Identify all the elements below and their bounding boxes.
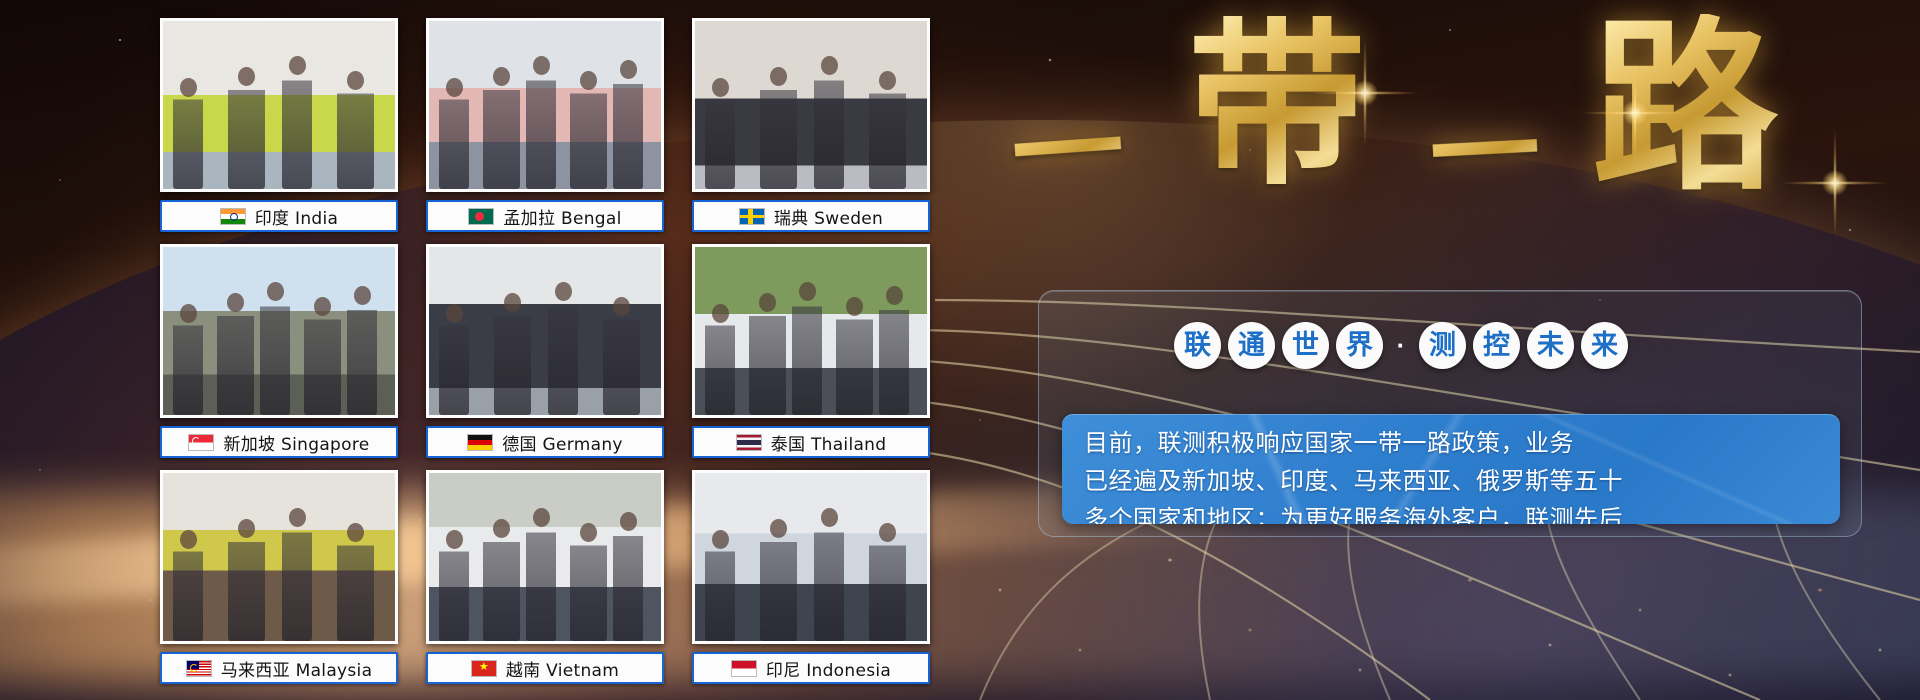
country-photo-singapore — [160, 244, 398, 418]
headline-char-2: 带 — [1188, 16, 1366, 194]
gallery-cell-thailand[interactable]: 泰国 Thailand — [692, 244, 930, 458]
slogan-badge-4: 界 — [1336, 322, 1383, 369]
slogan-badge-8: 未 — [1527, 322, 1574, 369]
photo-figure — [705, 311, 735, 415]
slogan-badge-3: 世 — [1282, 322, 1329, 369]
slogan-badges: 联通世界·测控未来 — [1174, 322, 1628, 369]
photo-scene — [163, 247, 395, 415]
country-label-text: 泰国 Thailand — [771, 430, 887, 455]
description-line-2: 已经遍及新加坡、印度、马来西亚、俄罗斯等五十 — [1084, 462, 1818, 500]
country-label-vietnam[interactable]: 越南 Vietnam — [426, 652, 664, 684]
photo-scene — [163, 21, 395, 189]
photo-figure — [260, 289, 290, 415]
photo-figure-head — [879, 71, 896, 90]
photo-figure-head — [555, 282, 572, 301]
gallery-cell-bengal[interactable]: 孟加拉 Bengal — [426, 18, 664, 232]
photo-figure — [439, 537, 469, 641]
photo-figure — [570, 78, 607, 189]
photo-figure-head — [289, 56, 306, 75]
photo-figure — [439, 85, 469, 189]
photo-figure — [749, 300, 786, 415]
photo-figure — [304, 304, 341, 415]
photo-figure — [494, 300, 531, 415]
flag-sweden-icon — [739, 208, 765, 225]
photo-scene — [695, 473, 927, 641]
country-photo-indonesia — [692, 470, 930, 644]
photo-figure-head — [770, 519, 787, 538]
country-label-india[interactable]: 印度 India — [160, 200, 398, 232]
flag-bangladesh-icon — [468, 208, 494, 225]
photo-figure-head — [446, 530, 463, 549]
gallery-cell-vietnam[interactable]: 越南 Vietnam — [426, 470, 664, 684]
photo-scene — [429, 247, 661, 415]
photo-figure — [603, 304, 640, 415]
photo-figure — [483, 74, 520, 189]
flag-germany-icon — [467, 434, 493, 451]
country-label-text: 新加坡 Singapore — [223, 430, 369, 455]
description-line-3: 多个国家和地区；为更好服务海外客户，联测先后 — [1084, 500, 1818, 524]
country-photo-india — [160, 18, 398, 192]
photo-figure-head — [446, 78, 463, 97]
photo-figure-head — [180, 304, 197, 323]
country-label-text: 越南 Vietnam — [506, 656, 619, 681]
photo-figure — [869, 78, 906, 189]
photo-figure-head — [821, 56, 838, 75]
photo-figure-head — [493, 67, 510, 86]
photo-figure — [337, 530, 374, 641]
photo-figure-head — [712, 304, 729, 323]
gallery-cell-malaysia[interactable]: 马来西亚 Malaysia — [160, 470, 398, 684]
gallery-cell-india[interactable]: 印度 India — [160, 18, 398, 232]
photo-figure-head — [712, 78, 729, 97]
photo-figure — [173, 85, 203, 189]
flag-vietnam-icon — [471, 660, 497, 677]
slogan-badge-2: 通 — [1228, 322, 1275, 369]
photo-figure — [526, 515, 556, 641]
photo-figure — [705, 537, 735, 641]
country-photo-vietnam — [426, 470, 664, 644]
slogan-badge-6: 测 — [1419, 322, 1466, 369]
headline-char-4: 路 — [1592, 14, 1778, 200]
country-label-text: 印尼 Indonesia — [766, 656, 891, 681]
country-photo-malaysia — [160, 470, 398, 644]
country-label-text: 瑞典 Sweden — [774, 204, 883, 229]
country-label-malaysia[interactable]: 马来西亚 Malaysia — [160, 652, 398, 684]
slogan-badge-7: 控 — [1473, 322, 1520, 369]
photo-figure-head — [238, 519, 255, 538]
flag-indonesia-icon — [731, 660, 757, 677]
country-photo-germany — [426, 244, 664, 418]
country-photo-grid: 印度 India孟加拉 Bengal瑞典 Sweden新加坡 Singapore… — [160, 18, 930, 678]
slogan-badge-9: 来 — [1581, 322, 1628, 369]
photo-figure — [570, 530, 607, 641]
country-label-germany[interactable]: 德国 Germany — [426, 426, 664, 458]
photo-figure-head — [821, 508, 838, 527]
country-photo-bengal — [426, 18, 664, 192]
flag-thailand-icon — [736, 434, 762, 451]
photo-figure-head — [770, 67, 787, 86]
photo-figure — [526, 63, 556, 189]
photo-figure — [228, 74, 265, 189]
photo-figure-head — [504, 293, 521, 312]
photo-figure — [282, 515, 312, 641]
country-label-text: 孟加拉 Bengal — [503, 204, 621, 229]
slogan-badge-1: 联 — [1174, 322, 1221, 369]
photo-figure-head — [180, 78, 197, 97]
photo-figure — [548, 289, 578, 415]
photo-figure — [814, 63, 844, 189]
photo-scene — [429, 21, 661, 189]
gallery-cell-sweden[interactable]: 瑞典 Sweden — [692, 18, 930, 232]
photo-figure — [439, 311, 469, 415]
photo-figure-head — [613, 297, 630, 316]
country-label-thailand[interactable]: 泰国 Thailand — [692, 426, 930, 458]
description-line-1: 目前，联测积极响应国家一带一路政策，业务 — [1084, 424, 1818, 462]
photo-figure-head — [289, 508, 306, 527]
photo-figure — [760, 526, 797, 641]
flag-malaysia-icon — [186, 660, 212, 677]
headline-calligraphy: 一 带 一 路 — [1020, 8, 1880, 218]
photo-figure-head — [712, 530, 729, 549]
country-label-text: 马来西亚 Malaysia — [221, 656, 373, 681]
photo-figure-head — [347, 71, 364, 90]
photo-figure — [836, 304, 873, 415]
photo-figure-head — [180, 530, 197, 549]
photo-figure — [483, 526, 520, 641]
photo-figure — [705, 85, 735, 189]
flag-india-icon — [220, 208, 246, 225]
country-label-sweden[interactable]: 瑞典 Sweden — [692, 200, 930, 232]
country-photo-thailand — [692, 244, 930, 418]
photo-figure — [173, 537, 203, 641]
photo-scene — [163, 473, 395, 641]
photo-figure — [814, 515, 844, 641]
photo-figure-head — [446, 304, 463, 323]
photo-figure — [869, 530, 906, 641]
photo-figure — [228, 526, 265, 641]
photo-scene — [695, 21, 927, 189]
photo-figure-head — [879, 523, 896, 542]
photo-scene — [695, 247, 927, 415]
gallery-cell-indonesia[interactable]: 印尼 Indonesia — [692, 470, 930, 684]
banner-stage: 印度 India孟加拉 Bengal瑞典 Sweden新加坡 Singapore… — [0, 0, 1920, 700]
photo-figure — [282, 63, 312, 189]
flag-singapore-icon — [188, 434, 214, 451]
photo-figure — [879, 293, 909, 415]
country-photo-sweden — [692, 18, 930, 192]
photo-figure — [173, 311, 203, 415]
gallery-cell-singapore[interactable]: 新加坡 Singapore — [160, 244, 398, 458]
country-label-indonesia[interactable]: 印尼 Indonesia — [692, 652, 930, 684]
photo-figure — [613, 67, 643, 189]
photo-figure-head — [759, 293, 776, 312]
photo-figure — [792, 289, 822, 415]
photo-figure — [613, 519, 643, 641]
photo-figure-head — [238, 67, 255, 86]
country-label-bengal[interactable]: 孟加拉 Bengal — [426, 200, 664, 232]
headline-char-3: 一 — [1427, 95, 1543, 211]
photo-figure — [337, 78, 374, 189]
slogan-separator: · — [1390, 322, 1412, 369]
country-label-text: 德国 Germany — [502, 430, 623, 455]
country-label-singapore[interactable]: 新加坡 Singapore — [160, 426, 398, 458]
gallery-cell-germany[interactable]: 德国 Germany — [426, 244, 664, 458]
photo-figure-head — [227, 293, 244, 312]
headline-char-1: 一 — [1008, 92, 1128, 212]
photo-figure — [760, 74, 797, 189]
photo-scene — [429, 473, 661, 641]
photo-figure — [347, 293, 377, 415]
photo-figure-head — [493, 519, 510, 538]
photo-figure — [217, 300, 254, 415]
description-card: 目前，联测积极响应国家一带一路政策，业务 已经遍及新加坡、印度、马来西亚、俄罗斯… — [1062, 414, 1840, 524]
country-label-text: 印度 India — [255, 204, 339, 229]
photo-figure-head — [347, 523, 364, 542]
